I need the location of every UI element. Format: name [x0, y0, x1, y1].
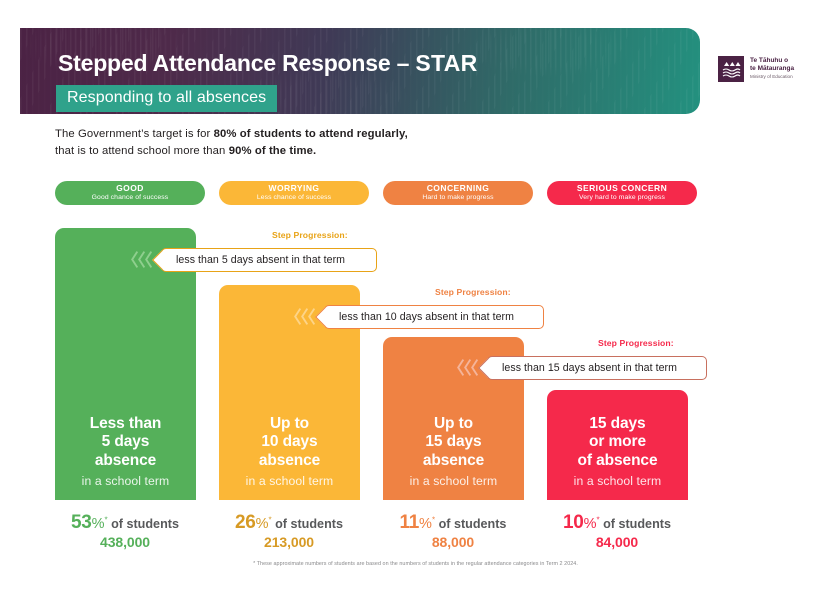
- pill-title: CONCERNING: [427, 184, 490, 193]
- step-progression-label-1: Step Progression:: [272, 230, 348, 240]
- header-banner: Stepped Attendance Response – STAR Respo…: [20, 28, 700, 114]
- pill-title: SERIOUS CONCERN: [577, 184, 667, 193]
- pill-title: WORRYING: [269, 184, 320, 193]
- stat-percent-value: 26: [235, 512, 256, 533]
- intro-text: The Government’s target is for 80% of st…: [55, 126, 408, 160]
- ministry-of-education-logo-icon: [718, 56, 744, 82]
- stat-percent-line: 53%* of students: [45, 512, 205, 533]
- logo-line-1: Te Tāhuhu o: [750, 57, 794, 65]
- logo-line-2: te Mātauranga: [750, 65, 794, 73]
- category-pill-serious-concern: SERIOUS CONCERNVery hard to make progres…: [547, 181, 697, 205]
- chevron-left-icon: [294, 308, 301, 325]
- intro-bold-2: 90% of the time.: [229, 145, 317, 157]
- ministry-logo: Te Tāhuhu o te Mātauranga Ministry of Ed…: [718, 56, 794, 82]
- chevron-left-icon-group-1: [131, 251, 152, 268]
- stat-student-count: 213,000: [209, 534, 369, 550]
- step-progression-box-2: less than 10 days absent in that term: [324, 305, 544, 329]
- pill-subtitle: Less chance of success: [257, 194, 331, 202]
- pill-subtitle: Good chance of success: [92, 194, 169, 202]
- logo-line-3: Ministry of Education: [750, 74, 794, 79]
- bar-label: Up to15 daysabsence: [423, 415, 484, 470]
- step-progression-label-2: Step Progression:: [435, 287, 511, 297]
- pill-subtitle: Very hard to make progress: [579, 194, 665, 202]
- logo-wordmark: Te Tāhuhu o te Mātauranga Ministry of Ed…: [750, 56, 794, 79]
- chevron-left-icon: [138, 251, 145, 268]
- bar-label: Up to10 daysabsence: [259, 415, 320, 470]
- intro-part-2: that is to attend school more than: [55, 145, 229, 157]
- stat-percent-symbol: %: [584, 516, 597, 532]
- stat-of-students-label: of students: [272, 517, 343, 531]
- bar-label: Less than5 daysabsence: [90, 415, 161, 470]
- stat-percent-symbol: %: [419, 516, 432, 532]
- bar-4: 15 daysor moreof absencein a school term: [547, 390, 688, 500]
- intro-part-1: The Government’s target is for: [55, 128, 214, 140]
- stat-4: 10%* of students84,000: [537, 512, 697, 550]
- page-title-main: Stepped Attendance Response –: [58, 50, 415, 76]
- chevron-left-icon: [131, 251, 138, 268]
- stat-of-students-label: of students: [108, 517, 179, 531]
- infographic-page: Stepped Attendance Response – STAR Respo…: [0, 0, 831, 596]
- footnote: * These approximate numbers of students …: [0, 561, 831, 567]
- stat-student-count: 84,000: [537, 534, 697, 550]
- intro-bold-1: 80% of students to attend regularly,: [214, 128, 408, 140]
- bar-sublabel: in a school term: [410, 474, 498, 488]
- step-progression-box-1: less than 5 days absent in that term: [161, 248, 377, 272]
- pill-title: GOOD: [116, 184, 144, 193]
- stat-percent-symbol: %: [256, 516, 269, 532]
- category-pill-concerning: CONCERNINGHard to make progress: [383, 181, 533, 205]
- bar-label: 15 daysor moreof absence: [578, 415, 658, 470]
- stat-3: 11%* of students88,000: [373, 512, 533, 550]
- stat-student-count: 88,000: [373, 534, 533, 550]
- stat-of-students-label: of students: [435, 517, 506, 531]
- pill-subtitle: Hard to make progress: [422, 194, 493, 202]
- stat-percent-value: 53: [71, 512, 92, 533]
- stat-percent-line: 26%* of students: [209, 512, 369, 533]
- stat-2: 26%* of students213,000: [209, 512, 369, 550]
- stat-percent-symbol: %: [92, 516, 105, 532]
- bar-sublabel: in a school term: [574, 474, 662, 488]
- chevron-left-icon-group-3: [457, 359, 478, 376]
- stat-percent-value: 11: [400, 512, 420, 533]
- stat-percent-line: 11%* of students: [373, 512, 533, 533]
- page-title-acronym: STAR: [415, 50, 477, 76]
- chevron-left-icon-group-2: [294, 308, 315, 325]
- stat-percent-line: 10%* of students: [537, 512, 697, 533]
- chevron-left-icon: [301, 308, 308, 325]
- stat-of-students-label: of students: [600, 517, 671, 531]
- category-pill-worrying: WORRYINGLess chance of success: [219, 181, 369, 205]
- chevron-left-icon: [464, 359, 471, 376]
- category-pill-good: GOODGood chance of success: [55, 181, 205, 205]
- page-subtitle: Responding to all absences: [56, 85, 277, 112]
- chevron-left-icon: [457, 359, 464, 376]
- bar-sublabel: in a school term: [246, 474, 334, 488]
- stat-percent-value: 10: [563, 512, 584, 533]
- page-title: Stepped Attendance Response – STAR: [58, 50, 478, 77]
- stat-student-count: 438,000: [45, 534, 205, 550]
- step-progression-box-3: less than 15 days absent in that term: [487, 356, 707, 380]
- bar-sublabel: in a school term: [82, 474, 170, 488]
- step-progression-label-3: Step Progression:: [598, 338, 674, 348]
- stat-1: 53%* of students438,000: [45, 512, 205, 550]
